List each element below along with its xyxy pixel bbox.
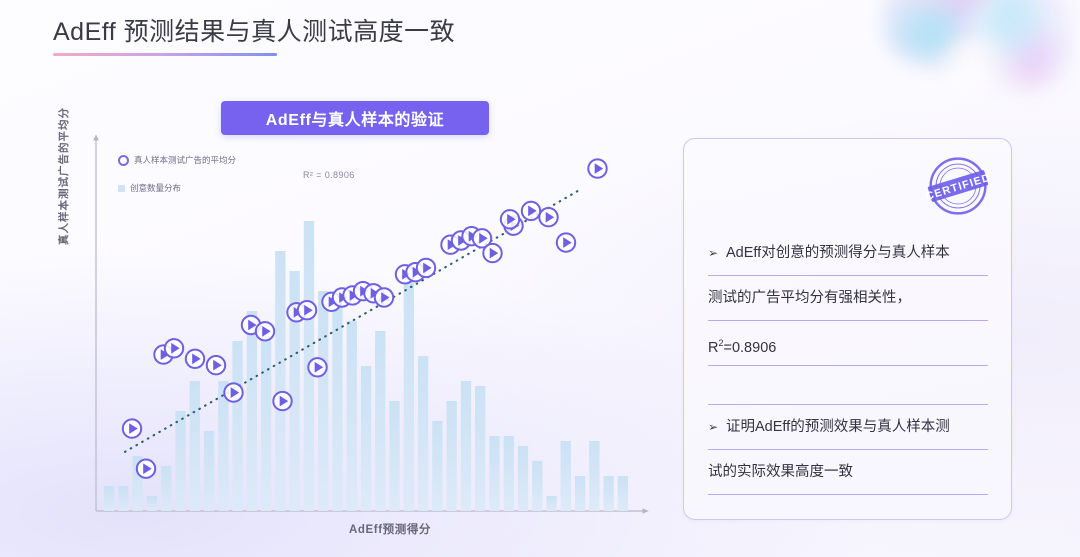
legend-marker-square-icon	[118, 185, 125, 192]
bullet-line: 测试的广告平均分有强相关性，	[708, 276, 988, 321]
chart-container: 真人样本测试广告的平均分 创意数量分布 R² = 0.8906 真人样本测试广告…	[60, 125, 670, 545]
bullet-text: 测试的广告平均分有强相关性，	[708, 290, 911, 306]
bullet-spacer-rule	[708, 378, 988, 405]
bar	[489, 436, 499, 511]
bar	[118, 486, 128, 511]
bar	[589, 441, 599, 511]
scatter-point-play-icon	[123, 419, 141, 437]
scatter-point-play-icon	[256, 322, 274, 340]
bar	[447, 401, 457, 511]
scatter-point-play-icon	[273, 392, 291, 410]
bullet-line: R2=0.8906	[708, 321, 988, 366]
bar	[432, 421, 442, 511]
scatter-point-play-icon	[308, 358, 326, 376]
bullet-group: ➢证明AdEff的预测效果与真人样本测试的实际效果高度一致	[708, 405, 988, 495]
bar	[190, 381, 200, 511]
scatter-point-play-icon	[417, 259, 435, 277]
bar	[604, 476, 614, 511]
bar	[518, 446, 528, 511]
bar-series-creative-distribution	[104, 221, 628, 511]
decorative-gradient-blob-large	[864, 0, 1041, 82]
bullet-text: 证明AdEff的预测效果与真人样本测	[726, 419, 950, 435]
bar	[575, 476, 585, 511]
title-block: AdEff 预测结果与真人测试高度一致	[53, 12, 455, 56]
bar	[461, 381, 471, 511]
bar	[261, 336, 271, 511]
bar	[475, 386, 485, 511]
title-underline-rule	[53, 53, 277, 56]
bar	[218, 381, 228, 511]
bar	[232, 341, 242, 511]
bullet-line-first: ➢AdEff对创意的预测得分与真人样本	[708, 231, 988, 276]
conclusion-card: CERTIFIED ➢AdEff对创意的预测得分与真人样本测试的广告平均分有强相…	[683, 138, 1012, 520]
scatter-point-play-icon	[522, 202, 540, 220]
bullet-text: 试的实际效果高度一致	[708, 464, 853, 480]
scatter-point-play-icon	[298, 301, 316, 319]
bar	[504, 436, 514, 511]
scatter-point-play-icon	[224, 383, 242, 401]
legend-item-creative-distribution: 创意数量分布	[118, 182, 181, 194]
legend-label-creative-distribution: 创意数量分布	[130, 183, 181, 193]
bar	[332, 306, 342, 511]
scatter-point-play-icon	[501, 210, 519, 228]
bar	[361, 366, 371, 511]
bar	[275, 251, 285, 511]
bullet-line-first: ➢证明AdEff的预测效果与真人样本测	[708, 405, 988, 450]
bullet-arrow-icon: ➢	[708, 405, 718, 449]
conclusion-bullet-list: ➢AdEff对创意的预测得分与真人样本测试的广告平均分有强相关性，R2=0.89…	[708, 231, 988, 507]
bar	[561, 441, 571, 511]
bar	[347, 321, 357, 511]
r-squared-annotation: R² = 0.8906	[303, 170, 355, 180]
scatter-point-play-icon	[137, 460, 155, 478]
x-axis-label: AdEff预测得分	[270, 521, 510, 537]
bar	[389, 401, 399, 511]
y-axis-label: 真人样本测试广告的平均分	[56, 75, 71, 245]
scatter-point-play-icon	[375, 288, 393, 306]
bullet-text: AdEff对创意的预测得分与真人样本	[726, 245, 950, 261]
bar	[418, 356, 428, 511]
certified-stamp-icon: CERTIFIED	[922, 150, 994, 222]
page-title: AdEff 预测结果与真人测试高度一致	[53, 12, 455, 48]
scatter-point-play-icon	[165, 339, 183, 357]
bar	[318, 291, 328, 511]
bar	[147, 496, 157, 511]
scatter-point-play-icon	[588, 159, 606, 177]
decorative-gradient-highlight	[940, 36, 1010, 94]
legend-item-human-score: 真人样本测试广告的平均分	[118, 154, 236, 166]
legend-marker-play-circle-icon	[118, 155, 129, 166]
bar	[175, 411, 185, 511]
decorative-gradient-blob-small	[957, 0, 1080, 98]
bar	[546, 496, 556, 511]
bar	[375, 331, 385, 511]
scatter-point-play-icon	[186, 350, 204, 368]
bar	[104, 486, 114, 511]
legend-label-human-score: 真人样本测试广告的平均分	[134, 155, 236, 165]
bar	[618, 476, 628, 511]
bar	[161, 466, 171, 511]
bullet-line: 试的实际效果高度一致	[708, 450, 988, 495]
bar	[247, 311, 257, 511]
bar	[204, 431, 214, 511]
bar	[404, 281, 414, 511]
bullet-group: ➢AdEff对创意的预测得分与真人样本测试的广告平均分有强相关性，R2=0.89…	[708, 231, 988, 366]
scatter-point-play-icon	[207, 356, 225, 374]
scatter-point-play-icon	[557, 233, 575, 251]
slide-background: AdEff 预测结果与真人测试高度一致 AdEff与真人样本的验证	[0, 0, 1080, 557]
bullet-arrow-icon: ➢	[708, 231, 718, 275]
scatter-point-play-icon	[483, 244, 501, 262]
bar	[532, 461, 542, 511]
scatter-point-play-icon	[539, 208, 557, 226]
bullet-text: R2=0.8906	[708, 340, 776, 356]
